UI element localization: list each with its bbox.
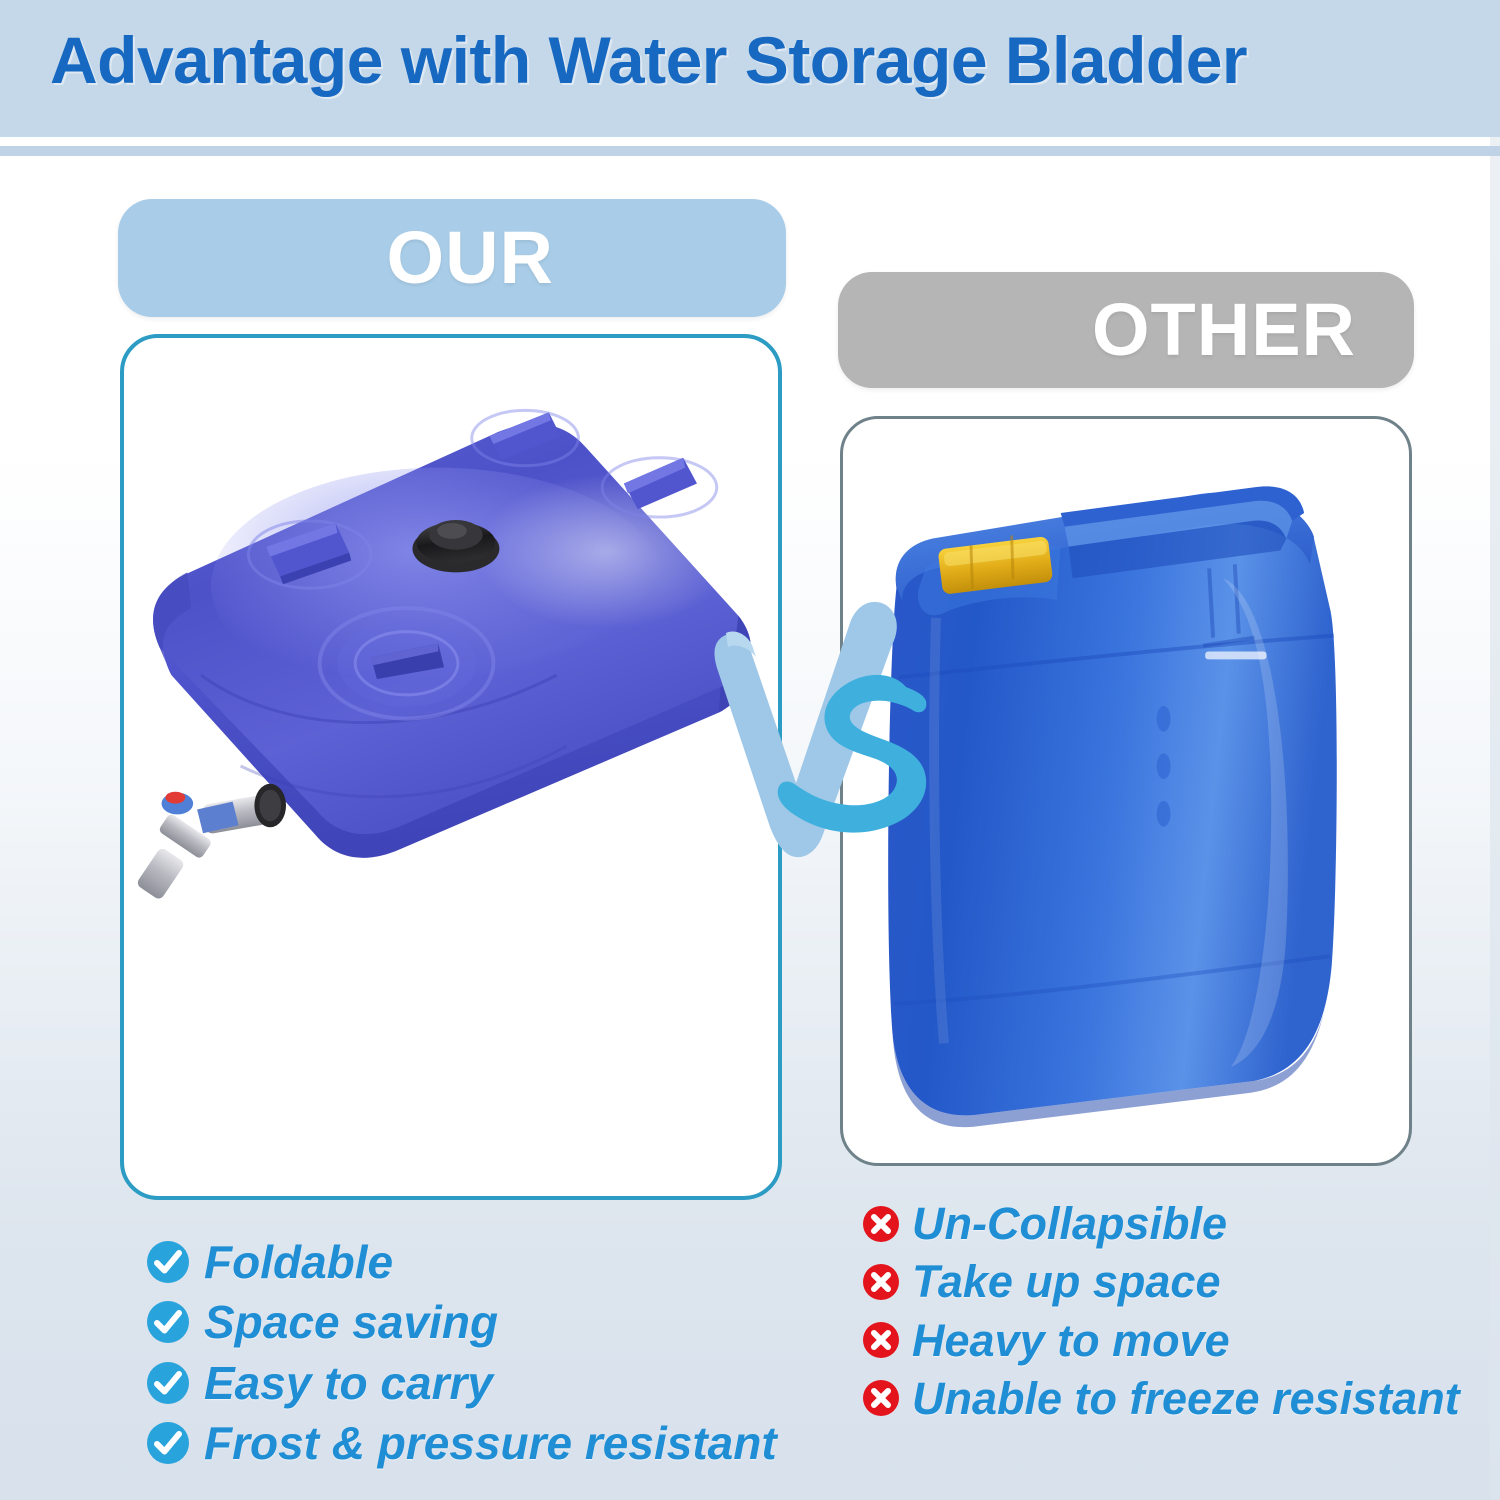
infographic-page: Advantage with Water Storage Bladder OUR… <box>0 0 1500 1500</box>
list-item: Frost & pressure resistant <box>146 1419 806 1467</box>
our-badge: OUR <box>118 199 786 317</box>
list-item: Space saving <box>146 1298 806 1346</box>
our-feature-list: Foldable Space saving Easy to carry <box>146 1238 806 1479</box>
feature-label: Easy to carry <box>204 1359 493 1407</box>
other-product-card <box>840 416 1412 1166</box>
plastic-jerry-can-image <box>843 419 1409 1163</box>
list-item: Unable to freeze resistant <box>862 1375 1492 1422</box>
x-circle-icon <box>862 1379 900 1417</box>
list-item: Take up space <box>862 1258 1492 1305</box>
other-feature-list: Un-Collapsible Take up space Heavy to mo… <box>862 1200 1492 1433</box>
other-badge-label: OTHER <box>1092 293 1356 367</box>
page-title: Advantage with Water Storage Bladder <box>50 24 1470 97</box>
feature-label: Heavy to move <box>912 1317 1230 1364</box>
list-item: Un-Collapsible <box>862 1200 1492 1247</box>
check-circle-icon <box>146 1240 190 1284</box>
our-badge-label: OUR <box>387 221 554 295</box>
water-storage-bladder-image <box>124 338 778 1196</box>
other-badge: OTHER <box>838 272 1414 388</box>
feature-label: Space saving <box>204 1298 498 1346</box>
bladder-valve-icon <box>136 784 286 901</box>
feature-label: Take up space <box>912 1258 1220 1305</box>
x-circle-icon <box>862 1205 900 1243</box>
list-item: Foldable <box>146 1238 806 1286</box>
feature-label: Foldable <box>204 1238 393 1286</box>
our-product-card <box>120 334 782 1200</box>
check-circle-icon <box>146 1361 190 1405</box>
feature-label: Unable to freeze resistant <box>912 1375 1460 1422</box>
list-item: Heavy to move <box>862 1317 1492 1364</box>
check-circle-icon <box>146 1421 190 1465</box>
x-circle-icon <box>862 1321 900 1359</box>
x-circle-icon <box>862 1263 900 1301</box>
feature-label: Un-Collapsible <box>912 1200 1227 1247</box>
check-circle-icon <box>146 1300 190 1344</box>
header-divider <box>0 146 1500 156</box>
list-item: Easy to carry <box>146 1359 806 1407</box>
feature-label: Frost & pressure resistant <box>204 1419 777 1467</box>
